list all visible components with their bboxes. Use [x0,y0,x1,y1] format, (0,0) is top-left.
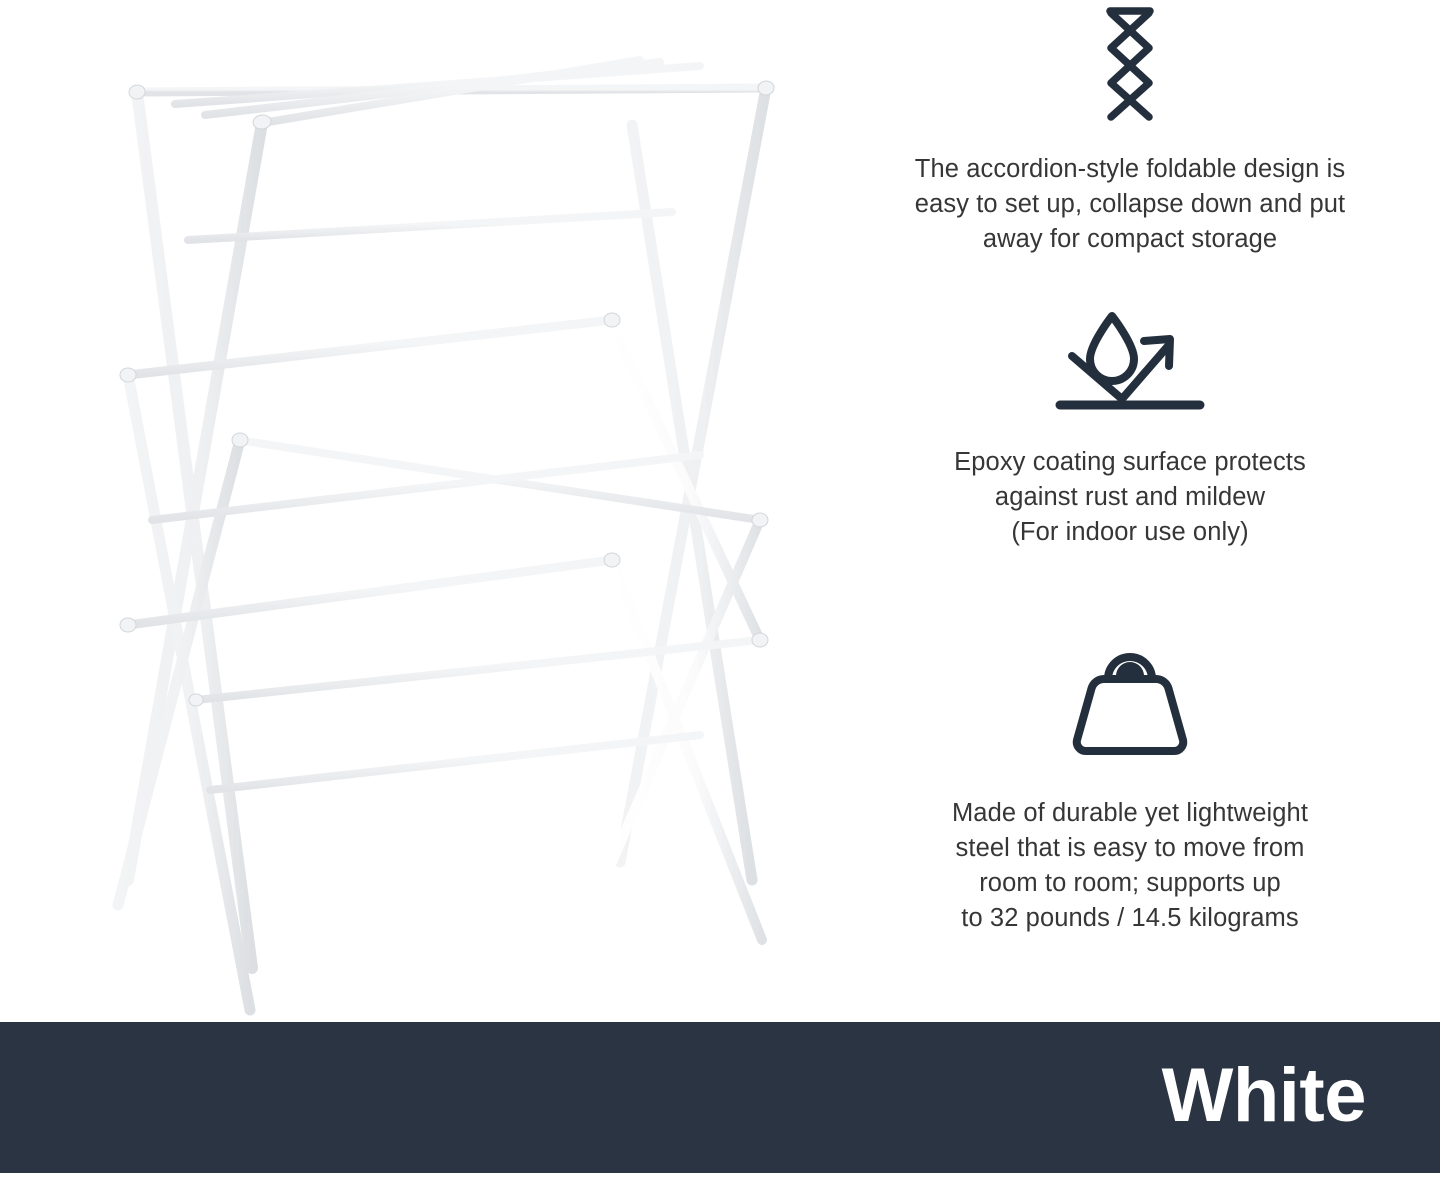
feature-text-line: easy to set up, collapse down and put [870,187,1390,222]
feature-text-line: to 32 pounds / 14.5 kilograms [870,901,1390,936]
drying-rack-illustration [0,0,820,1022]
feature-text-line: room to room; supports up [870,866,1390,901]
feature-accordion-design: The accordion-style foldable design is e… [820,0,1440,257]
feature-text-line: Epoxy coating surface protects [870,445,1390,480]
feature-text-line: steel that is easy to move from [870,831,1390,866]
feature-text-line: (For indoor use only) [870,515,1390,550]
rack-front-legs [128,92,262,968]
weight-capacity-icon [1064,652,1196,756]
feature-weight-text: Made of durable yet lightweight steel th… [870,796,1390,936]
accordion-fold-icon [1098,4,1162,122]
feature-epoxy-coating: Epoxy coating surface protects against r… [820,306,1440,550]
feature-epoxy-text: Epoxy coating surface protects against r… [870,445,1390,550]
feature-weight-capacity: Made of durable yet lightweight steel th… [820,652,1440,936]
feature-text-line: The accordion-style foldable design is [870,152,1390,187]
color-variant-banner: White [0,1022,1440,1173]
feature-list: The accordion-style foldable design is e… [820,0,1440,1022]
water-repellent-icon [1050,306,1210,411]
feature-text-line: away for compact storage [870,222,1390,257]
bottom-white-strip [0,1173,1440,1201]
product-image-panel [0,0,820,1022]
rack-tier2-bars [128,212,672,375]
product-infographic: The accordion-style foldable design is e… [0,0,1440,1201]
color-variant-label: White [1162,1058,1440,1134]
feature-text-line: against rust and mildew [870,480,1390,515]
feature-text-line: Made of durable yet lightweight [870,796,1390,831]
feature-accordion-text: The accordion-style foldable design is e… [870,152,1390,257]
rack-top-bars [137,60,766,123]
